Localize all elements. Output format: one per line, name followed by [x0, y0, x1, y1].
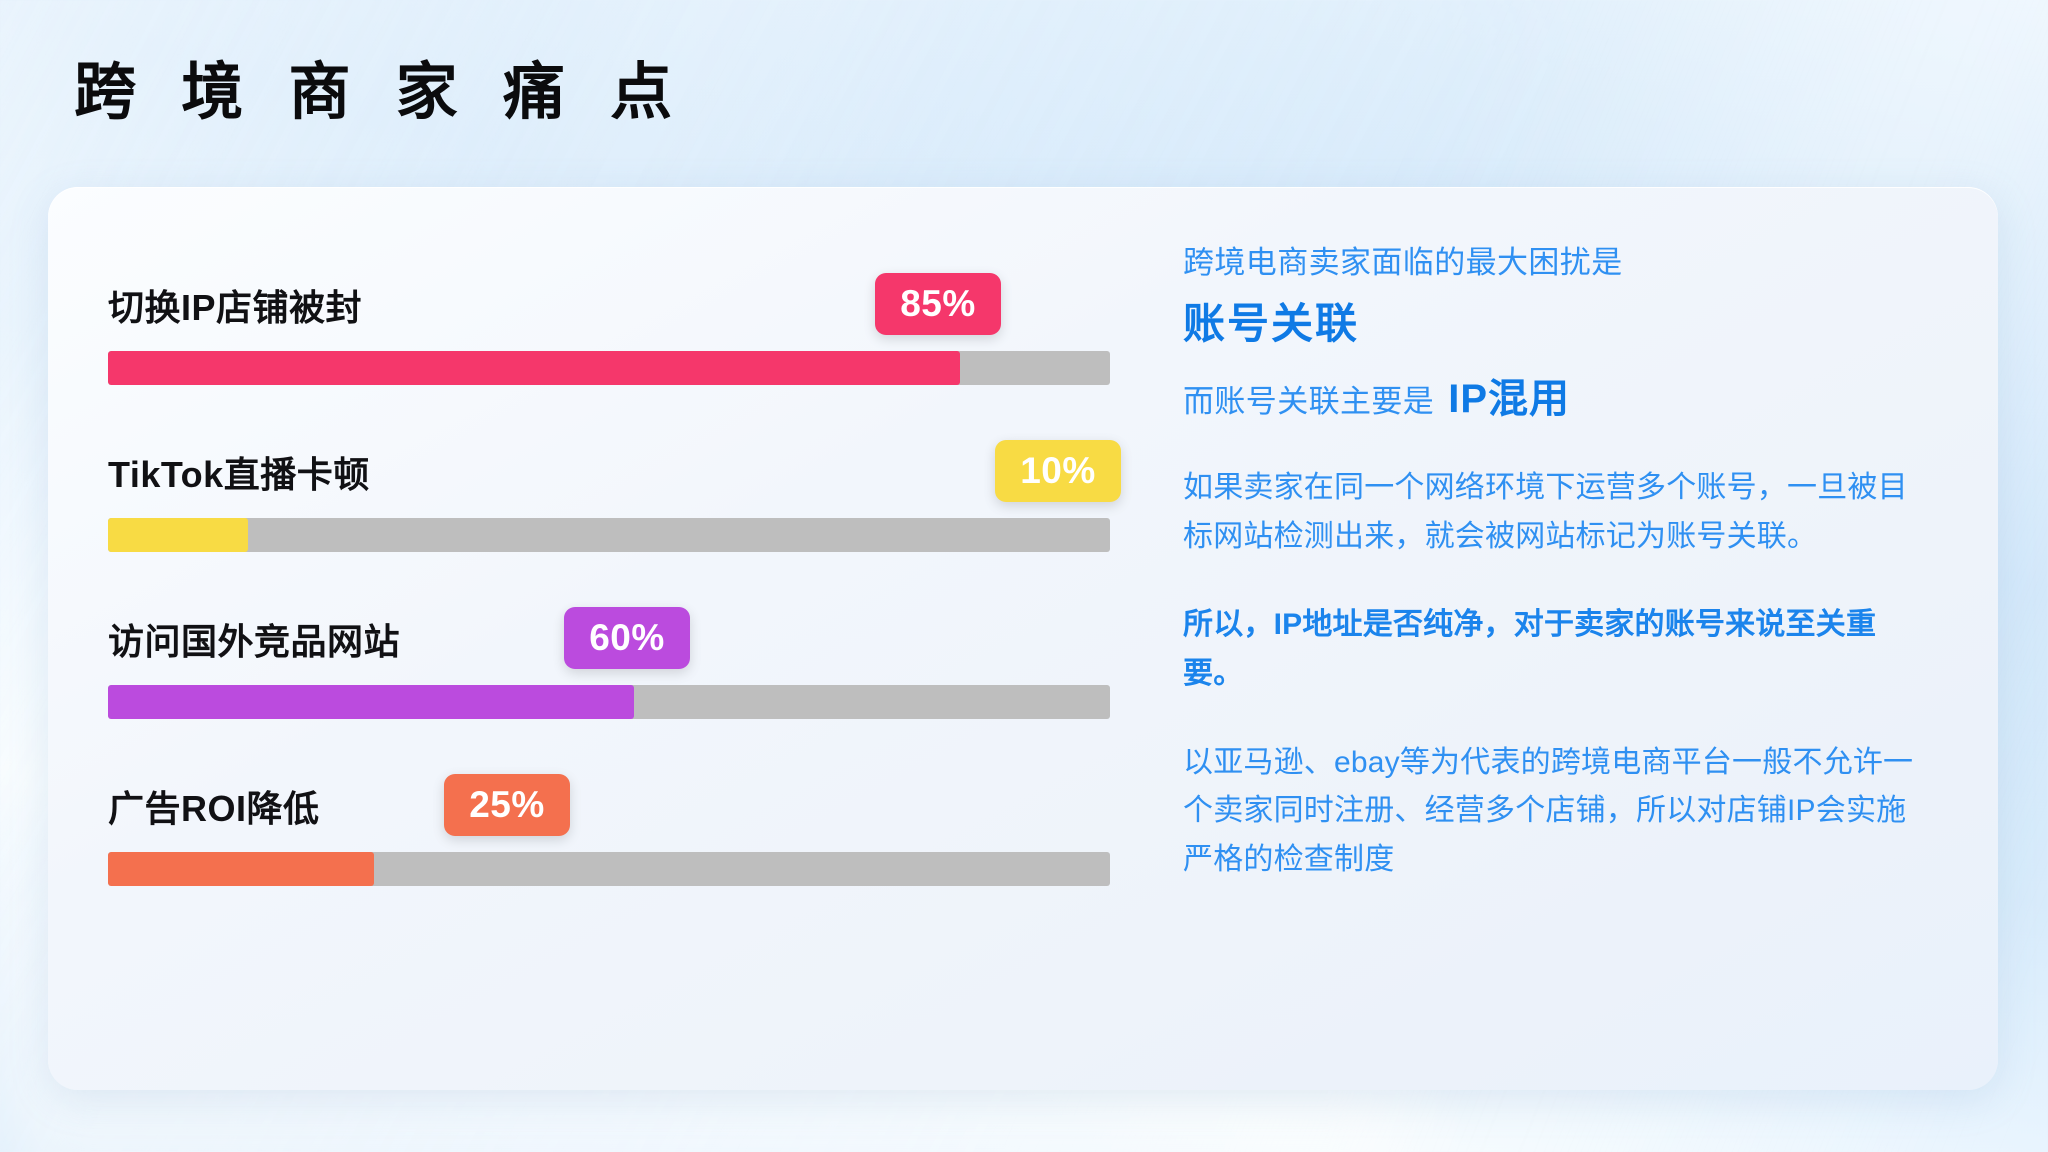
- panel-subline-prefix: 而账号关联主要是: [1183, 376, 1434, 421]
- bar-value-badge: 60%: [564, 607, 690, 669]
- bar-row: 访问国外竞品网站60%: [108, 591, 1110, 719]
- panel-highlight-text: 账号关联: [1183, 300, 1923, 348]
- bar-label: TikTok直播卡顿: [108, 446, 370, 498]
- panel-subline-strong: IP混用: [1448, 366, 1570, 424]
- bar-row: TikTok直播卡顿10%: [108, 424, 1110, 552]
- bar-fill: [108, 351, 960, 385]
- bar-value-badge: 25%: [444, 774, 570, 836]
- content-card: 切换IP店铺被封85%TikTok直播卡顿10%访问国外竞品网站60%广告ROI…: [48, 187, 1998, 1090]
- bar-header: 访问国外竞品网站60%: [108, 591, 1110, 669]
- panel-paragraph-1: 如果卖家在同一个网络环境下运营多个账号，一旦被目标网站检测出来，就会被网站标记为…: [1183, 464, 1923, 561]
- bar-track: [108, 351, 1110, 385]
- pain-point-bar-chart: 切换IP店铺被封85%TikTok直播卡顿10%访问国外竞品网站60%广告ROI…: [108, 257, 1110, 1017]
- bar-header: 广告ROI降低25%: [108, 758, 1110, 836]
- bar-value-badge: 85%: [875, 273, 1001, 335]
- bar-header: 切换IP店铺被封85%: [108, 257, 1110, 335]
- explanation-text-panel: 跨境电商卖家面临的最大困扰是 账号关联 而账号关联主要是 IP混用 如果卖家在同…: [1183, 242, 1923, 884]
- panel-paragraph-3: 以亚马逊、ebay等为代表的跨境电商平台一般不允许一个卖家同时注册、经营多个店铺…: [1183, 739, 1923, 885]
- bar-value-badge: 10%: [995, 440, 1121, 502]
- bar-fill: [108, 685, 634, 719]
- panel-lead-text: 跨境电商卖家面临的最大困扰是: [1183, 242, 1923, 284]
- bar-track: [108, 852, 1110, 886]
- page-title: 跨 境 商 家 痛 点: [74, 62, 686, 124]
- bar-label: 广告ROI降低: [108, 780, 320, 832]
- bar-row: 切换IP店铺被封85%: [108, 257, 1110, 385]
- bar-label: 访问国外竞品网站: [108, 613, 400, 665]
- bar-fill: [108, 518, 248, 552]
- bar-track: [108, 685, 1110, 719]
- panel-subline: 而账号关联主要是 IP混用: [1183, 366, 1923, 424]
- bar-fill: [108, 852, 374, 886]
- bar-track: [108, 518, 1110, 552]
- panel-paragraph-2: 所以，IP地址是否纯净，对于卖家的账号来说至关重要。: [1183, 601, 1923, 698]
- bar-header: TikTok直播卡顿10%: [108, 424, 1110, 502]
- bar-label: 切换IP店铺被封: [108, 279, 362, 331]
- bar-row: 广告ROI降低25%: [108, 758, 1110, 886]
